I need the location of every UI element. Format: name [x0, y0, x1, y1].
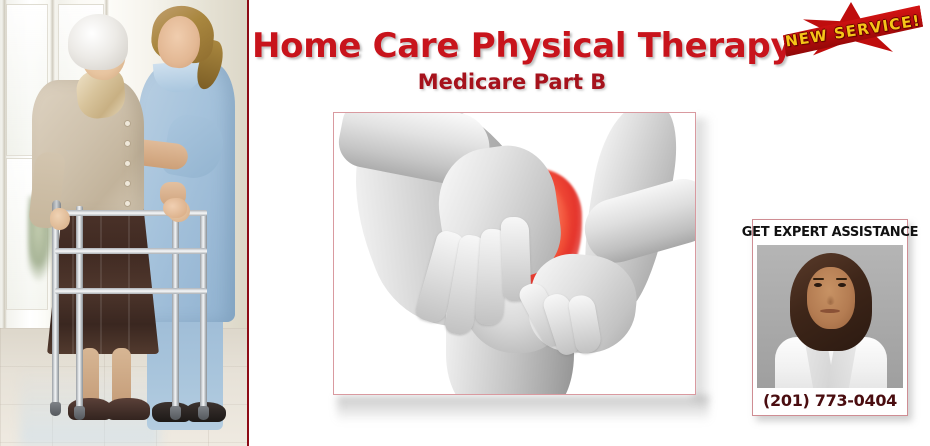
- eyebrow: [813, 278, 824, 280]
- cardigan-button: [124, 140, 131, 147]
- cardigan-button: [124, 120, 131, 127]
- skirt-fold: [128, 206, 130, 354]
- window-mullion: [2, 0, 7, 330]
- headline-block: Home Care Physical Therapy Medicare Part…: [252, 26, 772, 95]
- cardigan-button: [124, 180, 131, 187]
- walker-crossbar: [55, 288, 207, 294]
- expert-card-heading: GET EXPERT ASSISTANCE: [753, 220, 907, 244]
- caregiver-scrubs: [139, 62, 235, 322]
- eye: [814, 283, 822, 287]
- walker-leg: [52, 210, 59, 406]
- page-title: Home Care Physical Therapy: [252, 26, 772, 66]
- new-service-badge: NEW SERVICE!: [779, 0, 925, 62]
- walker-leg: [200, 210, 207, 410]
- walker-leg: [76, 206, 83, 410]
- caregiver-hand: [163, 198, 187, 218]
- walker-crossbar: [55, 248, 207, 254]
- walker-foot: [74, 406, 85, 420]
- cardigan-button: [124, 200, 131, 207]
- page-subtitle: Medicare Part B: [252, 69, 772, 95]
- knee-image-shadow: [337, 396, 709, 422]
- patient-shoe: [106, 398, 150, 420]
- vertical-divider: [247, 0, 249, 446]
- walker-foot: [50, 402, 61, 416]
- nose: [826, 295, 835, 305]
- walker-foot: [170, 406, 181, 420]
- therapist-photo: [757, 245, 903, 388]
- skirt-fold: [100, 206, 102, 354]
- knee-pain-image: [333, 112, 696, 395]
- expert-assistance-card[interactable]: GET EXPERT ASSISTANCE (201) 773-0404: [752, 219, 908, 416]
- skirt-fold: [72, 206, 74, 354]
- phone-number[interactable]: (201) 773-0404: [757, 389, 903, 411]
- patient-hand: [50, 208, 70, 230]
- patient-hair: [68, 14, 128, 70]
- mouth: [820, 309, 840, 313]
- walker-foot: [198, 406, 209, 420]
- banner-canvas: Home Care Physical Therapy Medicare Part…: [0, 0, 930, 446]
- cardigan-button: [124, 160, 131, 167]
- caregiver-photo: [0, 0, 247, 446]
- walker-leg: [172, 206, 179, 410]
- eye: [838, 283, 846, 287]
- knee-image-canvas: [334, 113, 695, 394]
- knee-image-shadow: [694, 118, 712, 400]
- eyebrow: [836, 278, 847, 280]
